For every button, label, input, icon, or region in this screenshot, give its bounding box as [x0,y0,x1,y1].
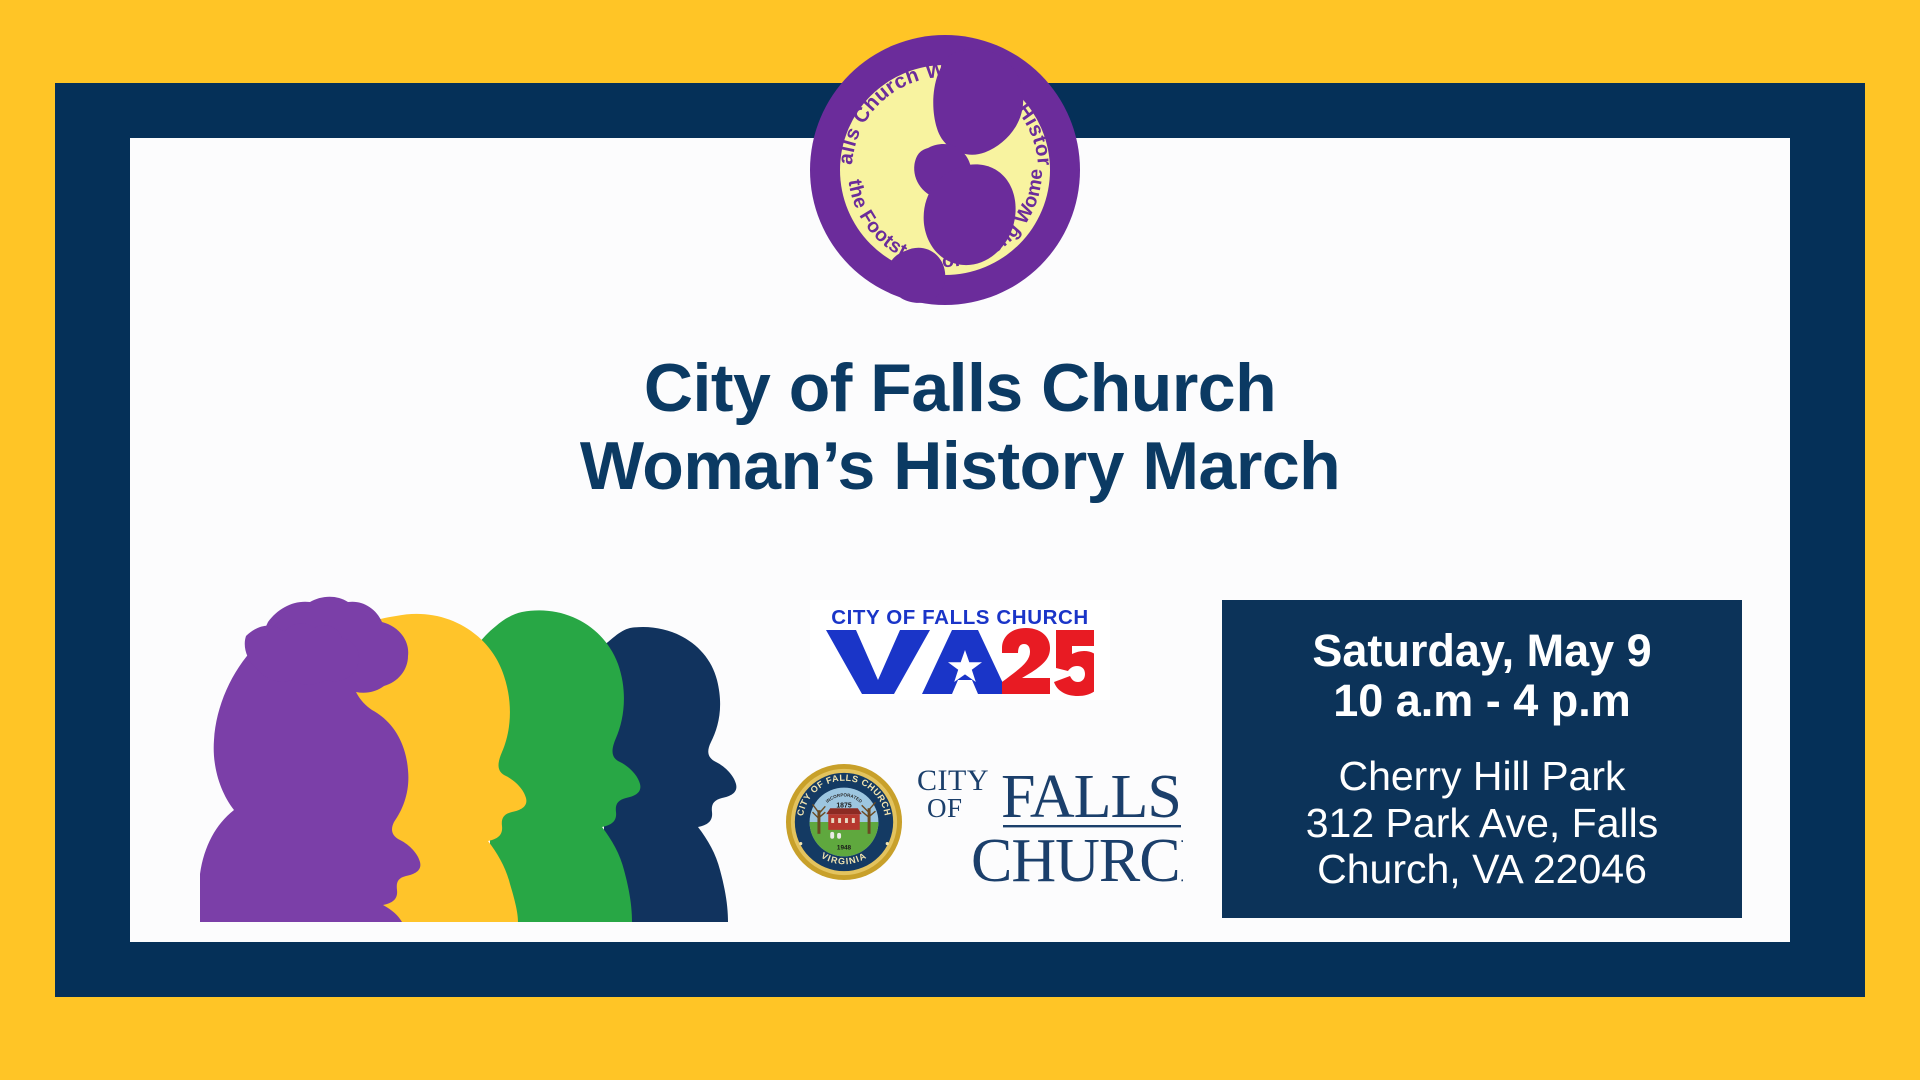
event-time: 10 a.m - 4 p.m [1222,676,1742,726]
va250-mark [826,628,1094,696]
va250-logo: CITY OF FALLS CHURCH [810,600,1110,700]
event-details-box: Saturday, May 9 10 a.m - 4 p.m Cherry Hi… [1222,600,1742,918]
wordmark-falls: FALLS [1001,763,1181,831]
va250-top-line: CITY OF FALLS CHURCH [810,606,1110,630]
event-venue: Cherry Hill Park [1222,753,1742,800]
wordmark-church: CHURCH [971,827,1183,890]
womens-history-badge-logo: Falls Church Women’s History In the Foot… [810,35,1080,305]
seal-founded-year: 1948 [837,845,852,852]
title-line-1: City of Falls Church [130,350,1790,428]
city-of-falls-church-logo: INCORPORATED 1875 1948 CITY OF FALLS CHU… [785,755,1185,890]
city-of-falls-church-wordmark: CITY OF FALLS CHURCH [913,755,1183,890]
footprints-icon [810,35,1080,305]
title-line-2: Woman’s History March [130,428,1790,506]
wordmark-of: OF [927,793,963,823]
women-silhouettes-image [160,592,760,922]
event-datetime: Saturday, May 9 10 a.m - 4 p.m [1222,618,1742,727]
city-seal-icon: INCORPORATED 1875 1948 CITY OF FALLS CHU… [785,763,903,881]
seal-incorporated-year: 1875 [836,802,851,809]
silhouette-purple [200,597,420,922]
event-date: Saturday, May 9 [1222,626,1742,676]
flyer-title: City of Falls Church Woman’s History Mar… [130,350,1790,505]
event-address-line-1: 312 Park Ave, Falls [1222,800,1742,847]
event-address-line-2: Church, VA 22046 [1222,846,1742,893]
event-location: Cherry Hill Park 312 Park Ave, Falls Chu… [1222,727,1742,893]
